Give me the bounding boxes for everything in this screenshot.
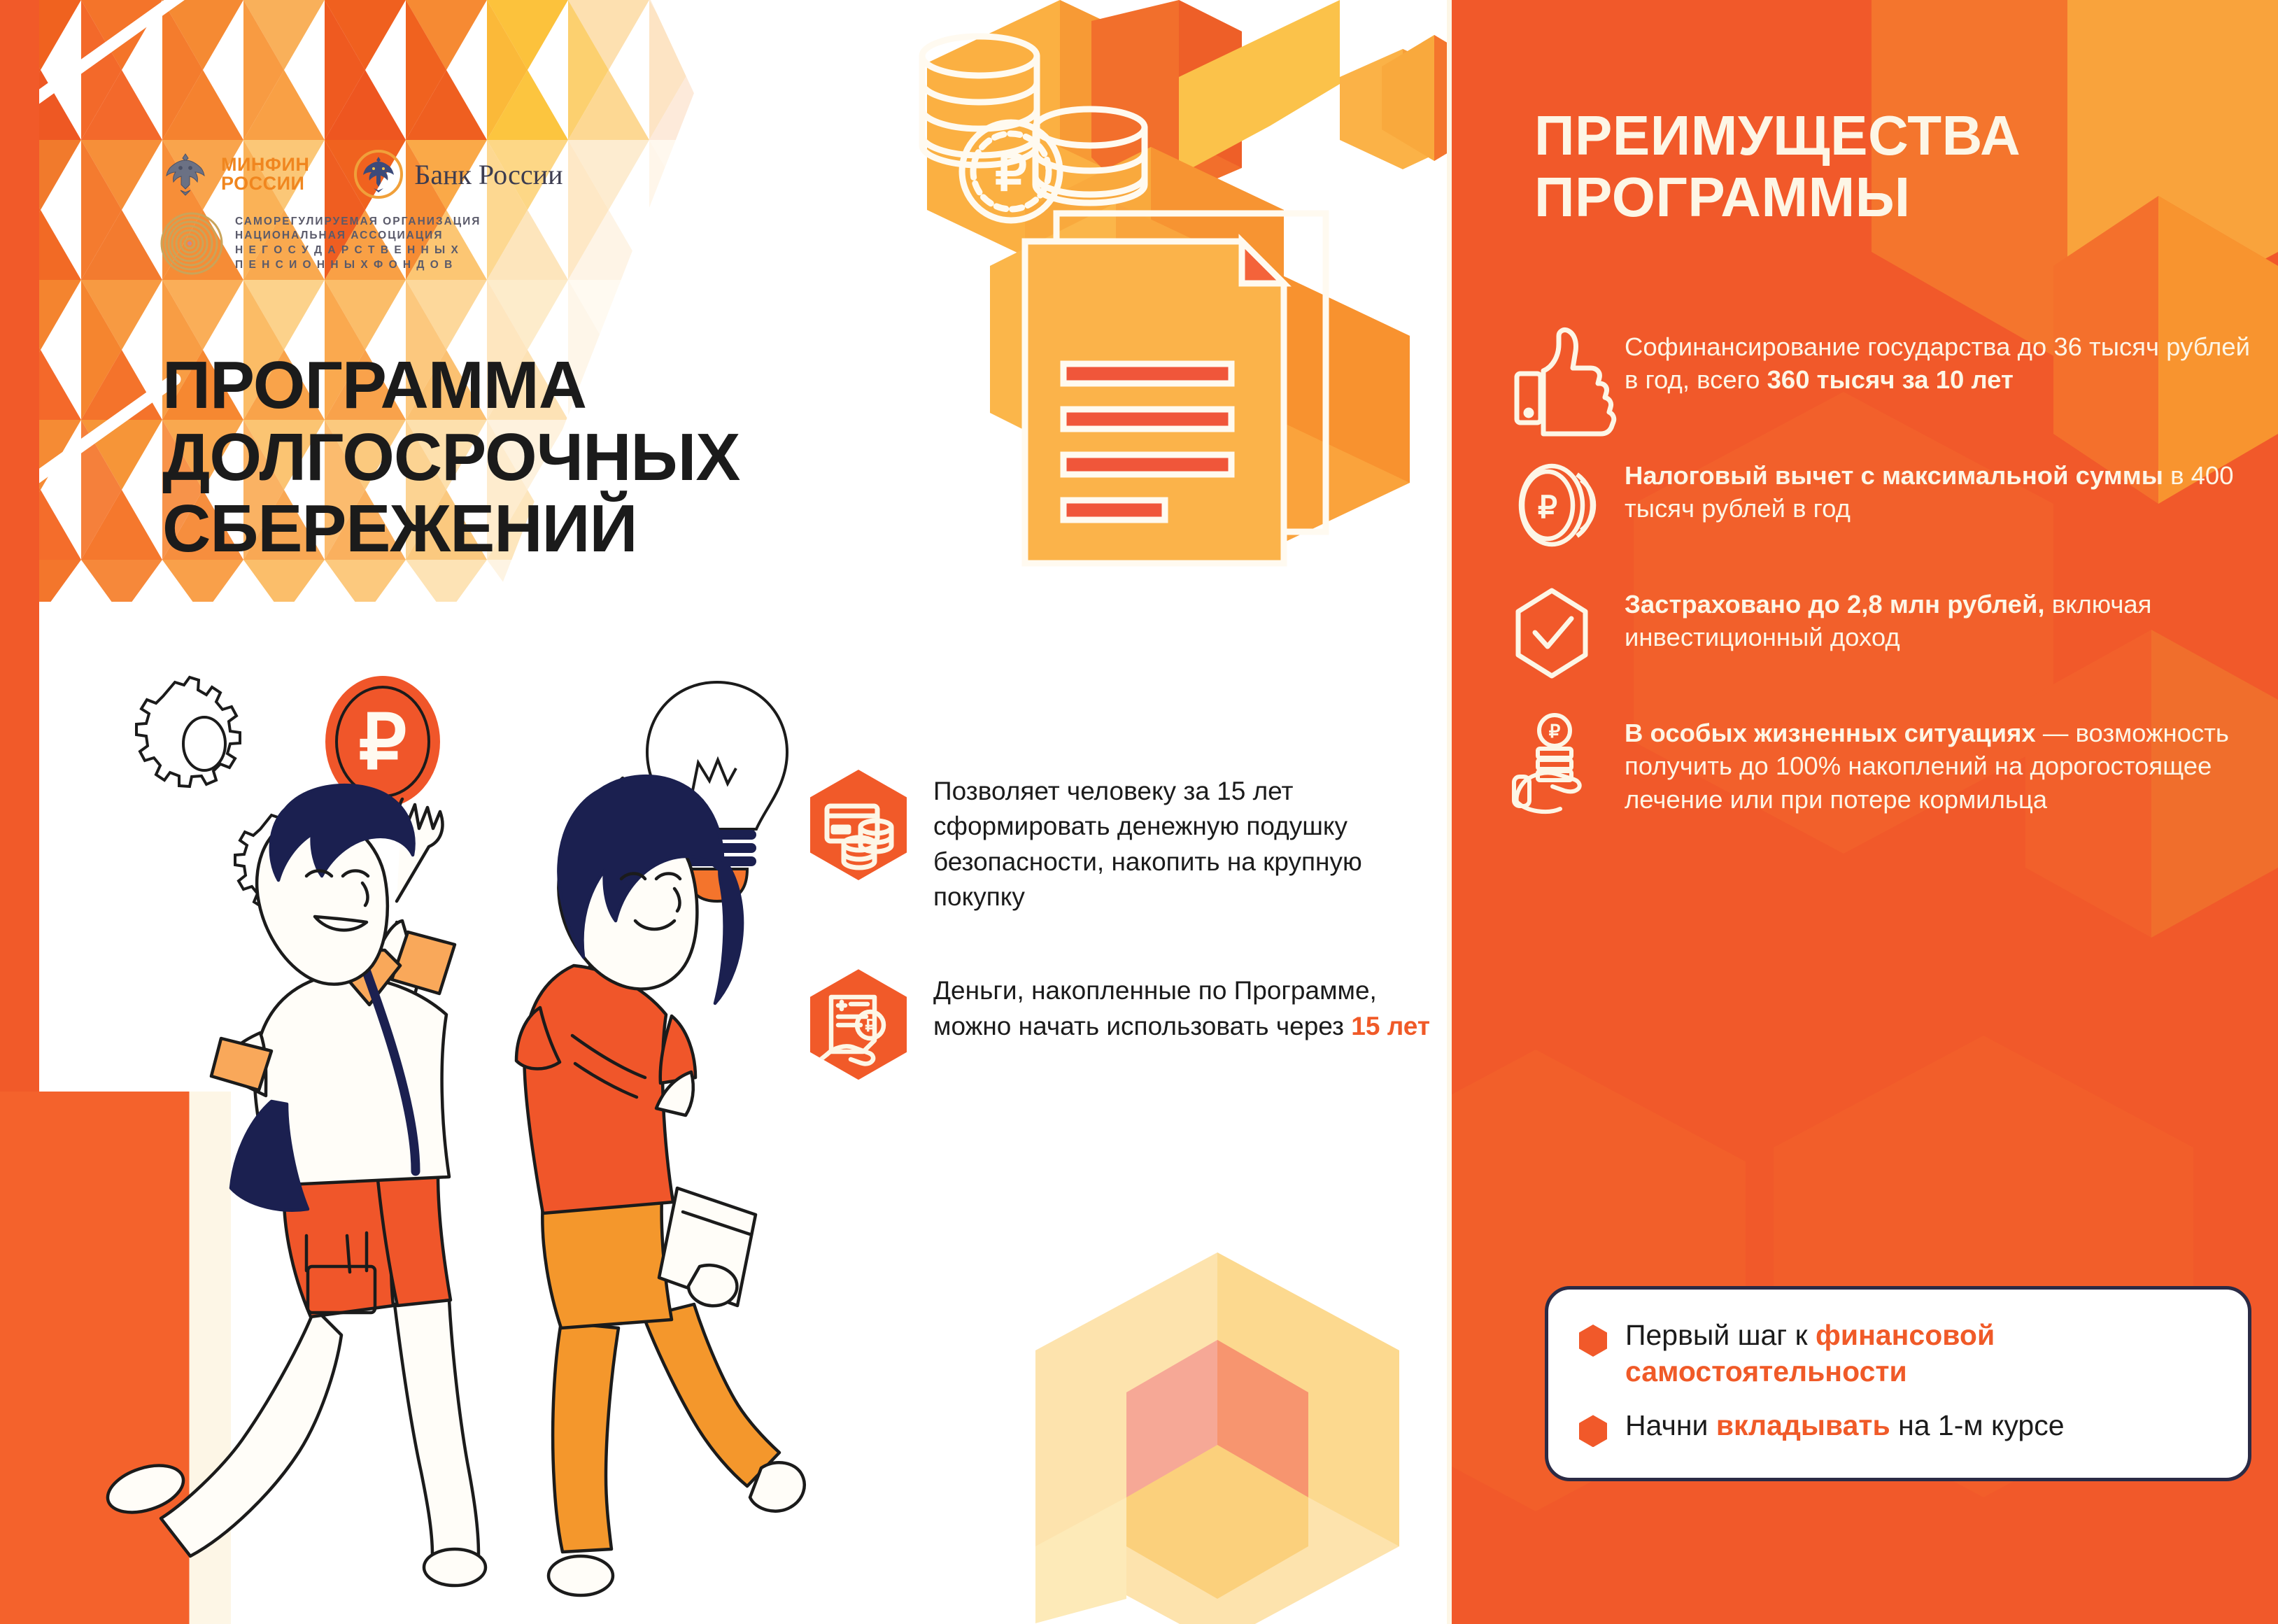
russian-eagle-emblem-icon [160,148,211,200]
bank-of-russia-label: Банк России [414,158,563,191]
hand-holding-coins-ruble-icon: ₽ [1511,714,1601,812]
bank-of-russia-eagle-icon [353,148,404,200]
list-item-text: Застраховано до 2,8 млн рублей, включая … [1625,585,2260,654]
card-and-coins-icon [810,770,907,880]
list-item-text: Первый шаг к финансовой самостоятельност… [1625,1318,2217,1390]
title-line-3: СБЕРЕЖЕНИЙ [162,493,740,565]
minfin-logo-text: МИНФИНРОССИИ [221,155,309,193]
logo-group: МИНФИНРОССИИ [160,148,663,276]
list-item: Первый шаг к финансовой самостоятельност… [1579,1318,2217,1390]
list-item-text: Начни вкладывать на 1-м курсе [1625,1408,2065,1444]
list-item-text: Позволяет человеку за 15 лет сформироват… [933,770,1440,915]
list-item-text: Деньги, накопленные по Программе, можно … [933,969,1440,1044]
panel-separator [1447,0,1452,1624]
list-item-text: Софинансирование государства до 36 тысяч… [1625,327,2260,397]
page-title: ПРОГРАММА ДОЛГОСРОЧНЫХ СБЕРЕЖЕНИЙ [162,350,740,565]
list-item-text: В особых жизненных ситуациях — возможнос… [1625,714,2260,816]
thumbs-up-icon [1511,327,1601,425]
list-item: ₽ В особых жизненных ситуациях — возможн… [1511,714,2260,816]
list-item: Застраховано до 2,8 млн рублей, включая … [1511,585,2260,683]
gear-icon [136,677,240,786]
bank-of-russia-logo: Банк России [353,148,563,200]
poster-root: МИНФИНРОССИИ [0,0,2278,1624]
ruble-coin-icon: ₽ [1511,456,1601,554]
benefits-panel-title: ПРЕИМУЩЕСТВА ПРОГРАММЫ [1534,105,2021,228]
ruble-symbol-coins: ₽ [995,146,1027,202]
napf-logo: САМОРЕГУЛИРУЕМАЯ ОРГАНИЗАЦИЯ НАЦИОНАЛЬНА… [160,211,663,276]
svg-text:₽: ₽ [865,1017,875,1036]
napf-logo-text: САМОРЕГУЛИРУЕМАЯ ОРГАНИЗАЦИЯ НАЦИОНАЛЬНА… [235,215,481,272]
list-item: ₽ Налоговый вычет с максимальной суммы в… [1511,456,2260,554]
hexagon-check-icon [1511,585,1601,683]
benefits-title-line-2: ПРОГРАММЫ [1534,167,2021,228]
svg-text:₽: ₽ [359,700,407,784]
list-item: ₽ Деньги, накопленные по Программе, можн… [810,969,1440,1080]
medical-receipt-in-hand-icon: ₽ [810,969,907,1080]
two-jumping-students-illustration: ₽ [84,616,826,1623]
list-item: Софинансирование государства до 36 тысяч… [1511,327,2260,425]
list-item: Позволяет человеку за 15 лет сформироват… [810,770,1440,915]
minfin-logo: МИНФИНРОССИИ [160,148,309,200]
title-line-1: ПРОГРАММА [162,350,740,422]
title-line-2: ДОЛГОСРОЧНЫХ [162,422,740,494]
list-item: Начни вкладывать на 1-м курсе [1579,1408,2217,1447]
callout-box: Первый шаг к финансовой самостоятельност… [1545,1286,2251,1481]
svg-text:₽: ₽ [1549,721,1561,742]
decorative-white-wedge [0,0,840,672]
svg-text:₽: ₽ [1538,490,1557,525]
benefits-list: Софинансирование государства до 36 тысяч… [1511,327,2260,847]
hexagon-bullet-icon [1579,1325,1607,1357]
napf-spiral-icon [160,211,224,276]
center-illustration: ₽ [850,0,1452,630]
hexagon-bullet-icon [1579,1415,1607,1447]
decorative-hexagon-pale [993,1231,1441,1623]
benefits-title-line-1: ПРЕИМУЩЕСТВА [1534,105,2021,167]
list-item-text: Налоговый вычет с максимальной суммы в 4… [1625,456,2260,525]
middle-bullet-list: Позволяет человеку за 15 лет сформироват… [810,770,1440,1134]
